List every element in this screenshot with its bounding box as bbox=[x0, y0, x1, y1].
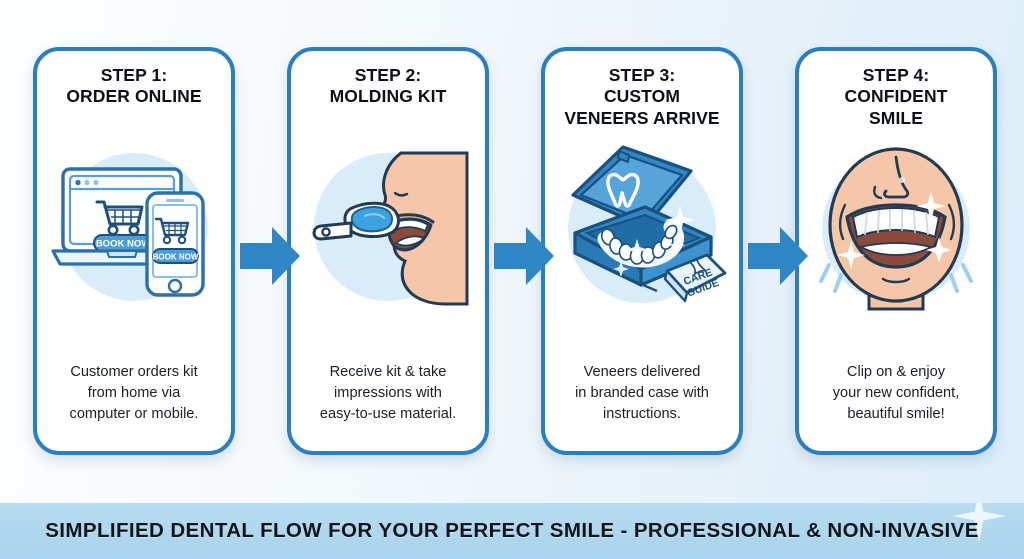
bottom-banner: SIMPLIFIED DENTAL FLOW FOR YOUR PERFECT … bbox=[0, 503, 1024, 559]
step-card-1: STEP 1: ORDER ONLINE bbox=[33, 47, 235, 455]
illustration-veneers-arrive: CARE GUIDE bbox=[549, 133, 735, 319]
face-profile-with-impression-tray-icon bbox=[295, 131, 481, 317]
banner-text: SIMPLIFIED DENTAL FLOW FOR YOUR PERFECT … bbox=[45, 519, 979, 543]
step-title-3: STEP 3: CUSTOM VENEERS ARRIVE bbox=[564, 65, 719, 129]
arrow-right-icon bbox=[492, 225, 556, 287]
laptop-and-phone-ordering-icon: BOOK NOW BOOK NOW bbox=[41, 131, 227, 317]
step-card-3: STEP 3: CUSTOM VENEERS ARRIVE bbox=[541, 47, 743, 455]
step-card-4: STEP 4: CONFIDENT SMILE bbox=[795, 47, 997, 455]
illustration-molding-kit bbox=[295, 131, 481, 317]
steps-container: STEP 1: ORDER ONLINE bbox=[0, 0, 1024, 503]
step-caption-1: Customer orders kit from home via comput… bbox=[70, 362, 199, 439]
step-card-2: STEP 2: MOLDING KIT bbox=[287, 47, 489, 455]
step-caption-2: Receive kit & take impressions with easy… bbox=[320, 362, 456, 439]
step-title-4: STEP 4: CONFIDENT SMILE bbox=[845, 65, 948, 129]
veneer-case-with-care-guide-icon: CARE GUIDE bbox=[549, 133, 735, 319]
connector-arrow-2 bbox=[492, 225, 556, 287]
step-title-1: STEP 1: ORDER ONLINE bbox=[66, 65, 201, 127]
connector-arrow-1 bbox=[238, 225, 302, 287]
step-caption-3: Veneers delivered in branded case with i… bbox=[575, 362, 709, 439]
illustration-confident-smile bbox=[803, 133, 989, 319]
arrow-right-icon bbox=[746, 225, 810, 287]
step-title-2: STEP 2: MOLDING KIT bbox=[330, 65, 447, 127]
arrow-right-icon bbox=[238, 225, 302, 287]
connector-arrow-3 bbox=[746, 225, 810, 287]
phone-book-now-label: BOOK NOW bbox=[153, 253, 199, 262]
illustration-order-online: BOOK NOW BOOK NOW bbox=[41, 131, 227, 317]
laptop-book-now-label: BOOK NOW bbox=[96, 239, 150, 250]
step-caption-4: Clip on & enjoy your new confident, beau… bbox=[833, 362, 960, 439]
smiling-face-icon bbox=[803, 133, 989, 319]
